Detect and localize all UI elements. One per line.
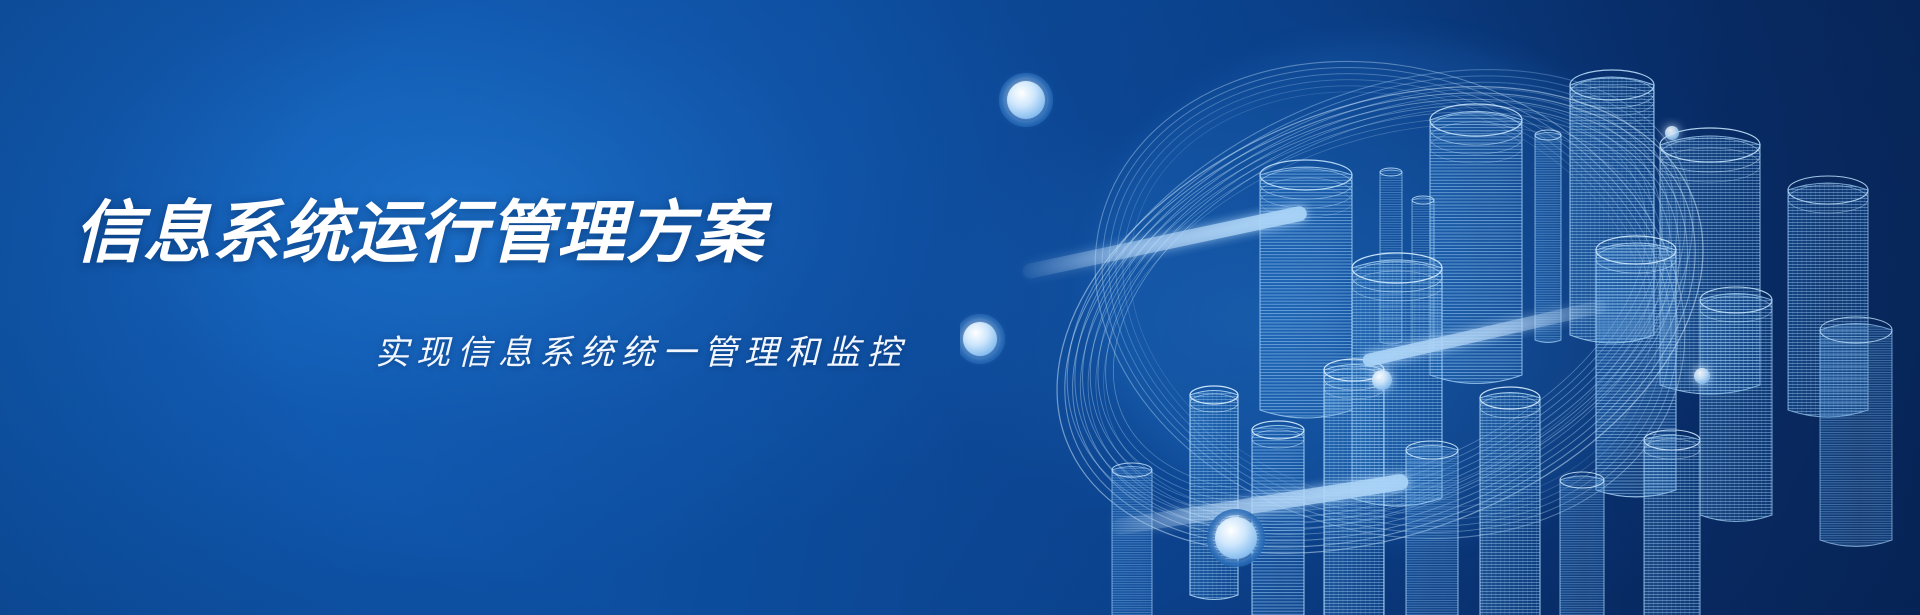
banner-subtitle: 实现信息系统统一管理和监控 xyxy=(375,330,908,376)
banner-text-block: 信息系统运行管理方案 实现信息系统统一管理和监控 xyxy=(0,0,990,615)
glow-dot-top-left xyxy=(1002,76,1050,124)
glow-dot-small-top-right xyxy=(1665,126,1679,140)
glow-dot-small-center xyxy=(1372,370,1392,390)
tower-front-1 xyxy=(1190,386,1238,600)
wireframe-city-illustration xyxy=(960,0,1920,615)
glow-dot-small-right xyxy=(1694,368,1710,384)
tower-front-2 xyxy=(1252,421,1304,615)
tower-front-8 xyxy=(1112,463,1152,615)
tower-mid-3 xyxy=(1700,287,1772,522)
banner-root: 信息系统运行管理方案 实现信息系统统一管理和监控 xyxy=(0,0,1920,615)
glow-dot-bottom xyxy=(1210,512,1262,564)
tower-mid-4 xyxy=(1820,317,1892,547)
banner-title: 信息系统运行管理方案 xyxy=(74,193,764,273)
tower-front-7 xyxy=(1644,430,1700,615)
tower-front-4 xyxy=(1406,441,1458,615)
tower-front-6 xyxy=(1560,472,1604,615)
tower-front-5 xyxy=(1480,387,1540,615)
